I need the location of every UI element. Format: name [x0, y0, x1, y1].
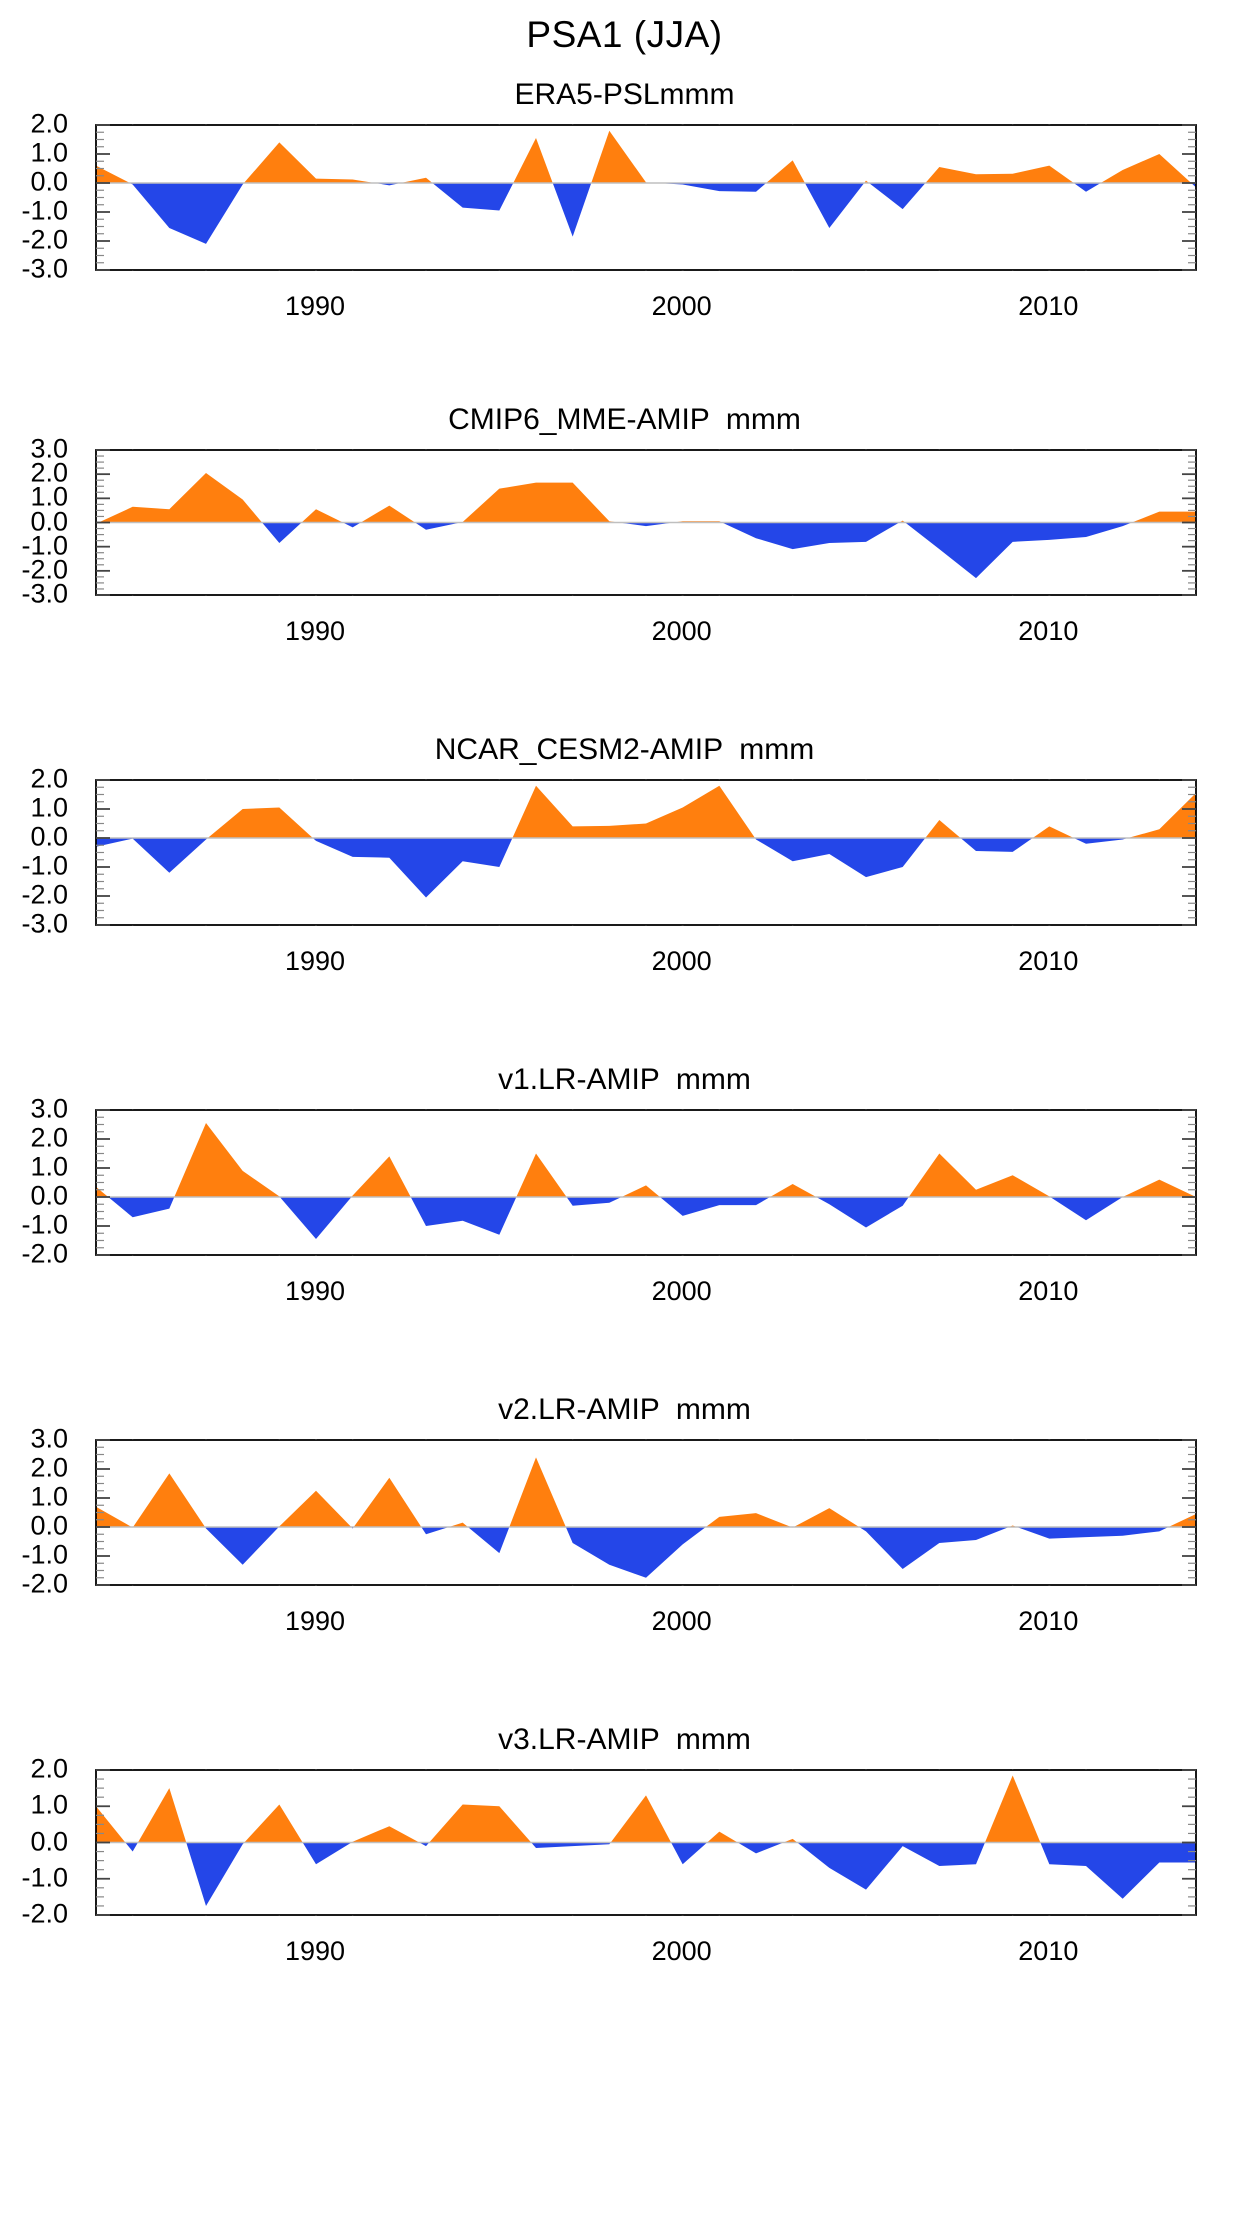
y-tick-label: 2.0 — [30, 1453, 68, 1484]
panel-title: v1.LR-AMIP mmm — [0, 1063, 1249, 1097]
y-tick-label: 3.0 — [30, 1424, 68, 1455]
plot-wrapper — [95, 1769, 1195, 1916]
negative-anomaly-fill — [96, 786, 1196, 898]
x-tick-label: 2000 — [652, 1936, 712, 1967]
y-tick-label: -2.0 — [21, 1239, 68, 1270]
x-tick-label: 1990 — [285, 616, 345, 647]
y-tick-label: 2.0 — [30, 764, 68, 795]
y-tick-label: 1.0 — [30, 1790, 68, 1821]
y-tick-label: -2.0 — [21, 880, 68, 911]
y-tick-label: -2.0 — [21, 1569, 68, 1600]
y-tick-label: 1.0 — [30, 793, 68, 824]
x-tick-label: 2010 — [1018, 291, 1078, 322]
panel-title: CMIP6_MME-AMIP mmm — [0, 403, 1249, 437]
panel-title: v3.LR-AMIP mmm — [0, 1723, 1249, 1757]
x-tick-label: 1990 — [285, 1606, 345, 1637]
x-tick-label: 2000 — [652, 1606, 712, 1637]
positive-anomaly-fill — [96, 1123, 1196, 1239]
plot-frame — [96, 125, 1196, 270]
x-tick-label: 2010 — [1018, 1276, 1078, 1307]
y-tick-label: 0.0 — [30, 1511, 68, 1542]
y-tick-label: -2.0 — [21, 1899, 68, 1930]
y-tick-label: -1.0 — [21, 530, 68, 561]
y-tick-label: -1.0 — [21, 1210, 68, 1241]
x-tick-label: 2010 — [1018, 1936, 1078, 1967]
x-tick-label: 1990 — [285, 946, 345, 977]
plot-wrapper — [95, 1109, 1195, 1256]
y-tick-label: 2.0 — [30, 1123, 68, 1154]
x-tick-label: 2010 — [1018, 946, 1078, 977]
plot-frame — [96, 1110, 1196, 1255]
negative-anomaly-fill — [96, 1457, 1196, 1577]
plot-area — [95, 1439, 1197, 1586]
positive-anomaly-fill — [96, 786, 1196, 898]
x-tick-label: 2000 — [652, 946, 712, 977]
panel-title: v2.LR-AMIP mmm — [0, 1393, 1249, 1427]
y-tick-label: -3.0 — [21, 579, 68, 610]
y-tick-label: -1.0 — [21, 1540, 68, 1571]
y-tick-label: 0.0 — [30, 1181, 68, 1212]
y-tick-label: 1.0 — [30, 1152, 68, 1183]
y-tick-label: 0.0 — [30, 167, 68, 198]
panel-title: NCAR_CESM2-AMIP mmm — [0, 733, 1249, 767]
negative-anomaly-fill — [96, 1123, 1196, 1239]
x-tick-label: 1990 — [285, 1276, 345, 1307]
plot-area — [95, 1109, 1197, 1256]
y-tick-label: 1.0 — [30, 138, 68, 169]
panel-title: ERA5-PSLmmm — [0, 78, 1249, 112]
x-tick-label: 2010 — [1018, 1606, 1078, 1637]
x-tick-label: 2000 — [652, 1276, 712, 1307]
y-tick-label: -2.0 — [21, 554, 68, 585]
y-tick-label: 0.0 — [30, 822, 68, 853]
x-tick-label: 2010 — [1018, 616, 1078, 647]
y-tick-label: 2.0 — [30, 109, 68, 140]
negative-anomaly-fill — [96, 473, 1196, 578]
y-tick-label: -3.0 — [21, 254, 68, 285]
plot-wrapper — [95, 1439, 1195, 1586]
x-tick-label: 2000 — [652, 291, 712, 322]
plot-wrapper — [95, 124, 1195, 271]
positive-anomaly-fill — [96, 131, 1196, 244]
y-tick-label: -3.0 — [21, 909, 68, 940]
y-tick-label: 2.0 — [30, 458, 68, 489]
figure-root: PSA1 (JJA) ERA5-PSLmmm2.01.00.0-1.0-2.0-… — [0, 0, 1249, 2229]
y-tick-label: 0.0 — [30, 506, 68, 537]
y-tick-label: -2.0 — [21, 225, 68, 256]
plot-area — [95, 449, 1197, 596]
x-tick-label: 1990 — [285, 1936, 345, 1967]
y-tick-label: 3.0 — [30, 434, 68, 465]
plot-wrapper — [95, 779, 1195, 926]
plot-area — [95, 124, 1197, 271]
x-tick-label: 1990 — [285, 291, 345, 322]
plot-area — [95, 1769, 1197, 1916]
plot-area — [95, 779, 1197, 926]
y-tick-label: 3.0 — [30, 1094, 68, 1125]
y-tick-label: -1.0 — [21, 851, 68, 882]
y-tick-label: -1.0 — [21, 196, 68, 227]
plot-frame — [96, 780, 1196, 925]
y-tick-label: 2.0 — [30, 1754, 68, 1785]
x-tick-label: 2000 — [652, 616, 712, 647]
y-tick-label: 0.0 — [30, 1826, 68, 1857]
y-tick-label: 1.0 — [30, 482, 68, 513]
figure-title: PSA1 (JJA) — [0, 14, 1249, 56]
plot-wrapper — [95, 449, 1195, 596]
y-tick-label: 1.0 — [30, 1482, 68, 1513]
positive-anomaly-fill — [96, 1775, 1196, 1906]
y-tick-label: -1.0 — [21, 1862, 68, 1893]
negative-anomaly-fill — [96, 131, 1196, 244]
